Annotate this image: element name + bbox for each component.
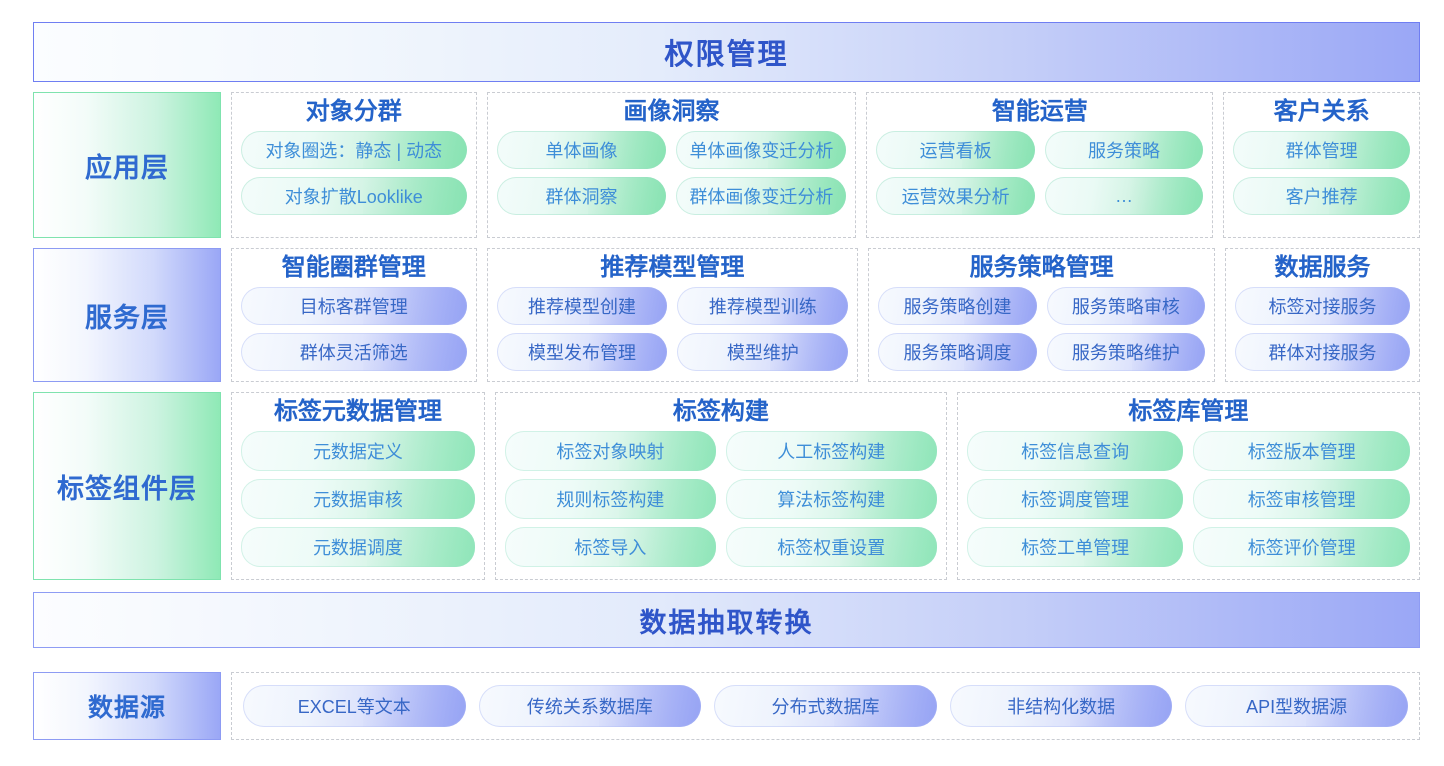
pill-item[interactable]: 标签审核管理 (1193, 479, 1410, 519)
pill-item[interactable]: 元数据调度 (241, 527, 475, 567)
application-layer-label-text: 应用层 (85, 146, 169, 185)
pill-label: 标签对接服务 (1269, 293, 1377, 319)
pill-grid: 服务策略创建 服务策略审核 服务策略调度 服务策略维护 (878, 287, 1205, 374)
pill-label: 推荐模型创建 (528, 293, 636, 319)
pill-label: 服务策略调度 (903, 339, 1011, 365)
pill-item[interactable]: 模型发布管理 (497, 333, 668, 371)
pill-item-more[interactable]: … (1045, 177, 1203, 215)
group-tag-metadata-management: 标签元数据管理 元数据定义 元数据审核 元数据调度 (231, 392, 485, 580)
pill-grid: 运营看板 服务策略 运营效果分析 … (876, 131, 1203, 230)
pill-item[interactable]: 目标客群管理 (241, 287, 467, 325)
pill-label: 传统关系数据库 (527, 693, 653, 719)
group-title: 对象分群 (241, 98, 467, 126)
pill-grid: 单体画像 单体画像变迁分析 群体洞察 群体画像变迁分析 (497, 131, 847, 230)
pill-label: 服务策略维护 (1072, 339, 1180, 365)
group-title: 标签元数据管理 (241, 398, 475, 426)
group-title: 数据服务 (1235, 254, 1410, 282)
pill-label: 标签权重设置 (777, 534, 885, 560)
pill-label: 标签评价管理 (1248, 534, 1356, 560)
service-layer-row: 服务层 智能圈群管理 目标客群管理 群体灵活筛选 推荐模型管理 推荐模型创建 推… (33, 248, 1420, 382)
pill-label: 服务策略审核 (1072, 293, 1180, 319)
pill-item[interactable]: 单体画像变迁分析 (676, 131, 846, 169)
pill-item[interactable]: 服务策略维护 (1047, 333, 1205, 371)
pill-label: 运营效果分析 (902, 183, 1010, 209)
pill-label: 对象圈选：静态 | 动态 (265, 137, 442, 163)
pill-label: 标签对象映射 (556, 438, 664, 464)
pill-grid: 群体管理 客户推荐 (1233, 131, 1410, 230)
pill-label: 人工标签构建 (777, 438, 885, 464)
pill-item[interactable]: 模型维护 (677, 333, 848, 371)
group-title: 智能圈群管理 (241, 254, 467, 282)
pill-item[interactable]: 分布式数据库 (714, 685, 937, 727)
pill-item[interactable]: 推荐模型创建 (497, 287, 668, 325)
pill-item[interactable]: 标签对象映射 (505, 431, 716, 471)
data-source-label-text: 数据源 (88, 688, 166, 724)
pill-item[interactable]: 标签调度管理 (967, 479, 1184, 519)
pill-item[interactable]: 传统关系数据库 (479, 685, 702, 727)
service-layer-label: 服务层 (33, 248, 221, 382)
pill-item[interactable]: 元数据审核 (241, 479, 475, 519)
pill-label: EXCEL等文本 (298, 693, 411, 719)
group-recommendation-model-management: 推荐模型管理 推荐模型创建 推荐模型训练 模型发布管理 模型维护 (487, 248, 859, 382)
data-source-pills: EXCEL等文本 传统关系数据库 分布式数据库 非结构化数据 API型数据源 (231, 672, 1420, 740)
tag-component-layer-label: 标签组件层 (33, 392, 221, 580)
pill-grid: 标签对接服务 群体对接服务 (1235, 287, 1410, 374)
pill-label: 标签工单管理 (1021, 534, 1129, 560)
pill-label: 规则标签构建 (556, 486, 664, 512)
pill-grid: 对象圈选：静态 | 动态 对象扩散Looklike (241, 131, 467, 230)
data-source-label: 数据源 (33, 672, 221, 740)
group-title: 标签构建 (505, 398, 937, 426)
pill-label: 服务策略创建 (903, 293, 1011, 319)
pill-label: 群体灵活筛选 (300, 339, 408, 365)
pill-item[interactable]: 群体对接服务 (1235, 333, 1410, 371)
pill-label: 非结构化数据 (1007, 693, 1115, 719)
pill-label: API型数据源 (1246, 693, 1347, 719)
pill-item[interactable]: 对象圈选：静态 | 动态 (241, 131, 467, 169)
group-intelligent-operation: 智能运营 运营看板 服务策略 运营效果分析 … (866, 92, 1213, 238)
data-extraction-transformation-banner: 数据抽取转换 (33, 592, 1420, 648)
group-tag-library-management: 标签库管理 标签信息查询 标签版本管理 标签调度管理 标签审核管理 标签工单管理… (957, 392, 1420, 580)
tag-component-layer-row: 标签组件层 标签元数据管理 元数据定义 元数据审核 元数据调度 标签构建 标签对… (33, 392, 1420, 580)
application-layer-label: 应用层 (33, 92, 221, 238)
group-title: 智能运营 (876, 98, 1203, 126)
group-title: 标签库管理 (967, 398, 1410, 426)
pill-label: … (1115, 186, 1133, 207)
pill-item[interactable]: 群体灵活筛选 (241, 333, 467, 371)
pill-label: 标签版本管理 (1248, 438, 1356, 464)
pill-item[interactable]: 标签导入 (505, 527, 716, 567)
pill-label: 元数据定义 (313, 438, 403, 464)
pill-item[interactable]: 群体洞察 (497, 177, 667, 215)
group-object-segmentation: 对象分群 对象圈选：静态 | 动态 对象扩散Looklike (231, 92, 477, 238)
pill-grid: 目标客群管理 群体灵活筛选 (241, 287, 467, 374)
pill-item[interactable]: 标签权重设置 (726, 527, 937, 567)
pill-label: 目标客群管理 (300, 293, 408, 319)
pill-label: 标签调度管理 (1021, 486, 1129, 512)
pill-item[interactable]: 人工标签构建 (726, 431, 937, 471)
pill-item[interactable]: 服务策略创建 (878, 287, 1036, 325)
pill-item[interactable]: 群体管理 (1233, 131, 1410, 169)
service-layer-label-text: 服务层 (85, 296, 169, 335)
pill-label: 运营看板 (920, 137, 992, 163)
pill-item[interactable]: 元数据定义 (241, 431, 475, 471)
pill-item[interactable]: 对象扩散Looklike (241, 177, 467, 215)
pill-item[interactable]: EXCEL等文本 (243, 685, 466, 727)
group-smart-group-management: 智能圈群管理 目标客群管理 群体灵活筛选 (231, 248, 477, 382)
group-customer-relationship: 客户关系 群体管理 客户推荐 (1223, 92, 1420, 238)
pill-label: 群体对接服务 (1269, 339, 1377, 365)
pill-item[interactable]: 标签版本管理 (1193, 431, 1410, 471)
pill-label: 群体画像变迁分析 (689, 183, 833, 209)
group-tag-construction: 标签构建 标签对象映射 人工标签构建 规则标签构建 算法标签构建 标签导入 标签… (495, 392, 947, 580)
pill-item[interactable]: 服务策略审核 (1047, 287, 1205, 325)
pill-item[interactable]: 客户推荐 (1233, 177, 1410, 215)
pill-label: 模型维护 (727, 339, 799, 365)
pill-grid: 标签信息查询 标签版本管理 标签调度管理 标签审核管理 标签工单管理 标签评价管… (967, 431, 1410, 572)
pill-label: 群体洞察 (546, 183, 618, 209)
pill-label: 分布式数据库 (771, 693, 879, 719)
group-service-strategy-management: 服务策略管理 服务策略创建 服务策略审核 服务策略调度 服务策略维护 (868, 248, 1215, 382)
pill-item[interactable]: 算法标签构建 (726, 479, 937, 519)
tag-component-layer-groups: 标签元数据管理 元数据定义 元数据审核 元数据调度 标签构建 标签对象映射 人工… (231, 392, 1420, 580)
pill-label: 服务策略 (1088, 137, 1160, 163)
tag-component-layer-label-text: 标签组件层 (57, 467, 197, 506)
pill-item[interactable]: 规则标签构建 (505, 479, 716, 519)
permission-management-banner-title: 权限管理 (664, 31, 788, 73)
group-title: 画像洞察 (497, 98, 847, 126)
pill-grid: 元数据定义 元数据审核 元数据调度 (241, 431, 475, 572)
application-layer-row: 应用层 对象分群 对象圈选：静态 | 动态 对象扩散Looklike 画像洞察 … (33, 92, 1420, 238)
pill-label: 算法标签构建 (777, 486, 885, 512)
pill-item[interactable]: 标签评价管理 (1193, 527, 1410, 567)
pill-label: 元数据审核 (313, 486, 403, 512)
pill-item[interactable]: 服务策略调度 (878, 333, 1036, 371)
permission-management-banner: 权限管理 (33, 22, 1420, 82)
pill-item[interactable]: 群体画像变迁分析 (676, 177, 846, 215)
pill-label: 推荐模型训练 (709, 293, 817, 319)
pill-item[interactable]: 标签信息查询 (967, 431, 1184, 471)
pill-item[interactable]: 单体画像 (497, 131, 667, 169)
group-portrait-insight: 画像洞察 单体画像 单体画像变迁分析 群体洞察 群体画像变迁分析 (487, 92, 857, 238)
group-title: 推荐模型管理 (497, 254, 849, 282)
data-source-row: 数据源 EXCEL等文本 传统关系数据库 分布式数据库 非结构化数据 API型数… (33, 672, 1420, 740)
pill-item[interactable]: 推荐模型训练 (677, 287, 848, 325)
pill-grid: 标签对象映射 人工标签构建 规则标签构建 算法标签构建 标签导入 标签权重设置 (505, 431, 937, 572)
pill-label: 单体画像变迁分析 (689, 137, 833, 163)
service-layer-groups: 智能圈群管理 目标客群管理 群体灵活筛选 推荐模型管理 推荐模型创建 推荐模型训… (231, 248, 1420, 382)
pill-item[interactable]: 标签工单管理 (967, 527, 1184, 567)
group-title: 服务策略管理 (878, 254, 1205, 282)
pill-item[interactable]: 运营看板 (876, 131, 1034, 169)
pill-label: 对象扩散Looklike (285, 183, 423, 209)
architecture-diagram: 权限管理 应用层 对象分群 对象圈选：静态 | 动态 对象扩散Looklike … (0, 0, 1444, 766)
pill-label: 标签信息查询 (1021, 438, 1129, 464)
pill-label: 模型发布管理 (528, 339, 636, 365)
pill-label: 元数据调度 (313, 534, 403, 560)
application-layer-groups: 对象分群 对象圈选：静态 | 动态 对象扩散Looklike 画像洞察 单体画像… (231, 92, 1420, 238)
data-extraction-transformation-banner-title: 数据抽取转换 (640, 601, 814, 640)
pill-item[interactable]: 服务策略 (1045, 131, 1203, 169)
pill-item[interactable]: 标签对接服务 (1235, 287, 1410, 325)
pill-label: 群体管理 (1286, 137, 1358, 163)
pill-label: 标签审核管理 (1248, 486, 1356, 512)
pill-item[interactable]: 非结构化数据 (950, 685, 1173, 727)
group-data-service: 数据服务 标签对接服务 群体对接服务 (1225, 248, 1420, 382)
pill-label: 单体画像 (546, 137, 618, 163)
group-title: 客户关系 (1233, 98, 1410, 126)
pill-item[interactable]: API型数据源 (1185, 685, 1408, 727)
pill-grid: 推荐模型创建 推荐模型训练 模型发布管理 模型维护 (497, 287, 849, 374)
pill-label: 客户推荐 (1286, 183, 1358, 209)
pill-item[interactable]: 运营效果分析 (876, 177, 1034, 215)
pill-label: 标签导入 (574, 534, 646, 560)
